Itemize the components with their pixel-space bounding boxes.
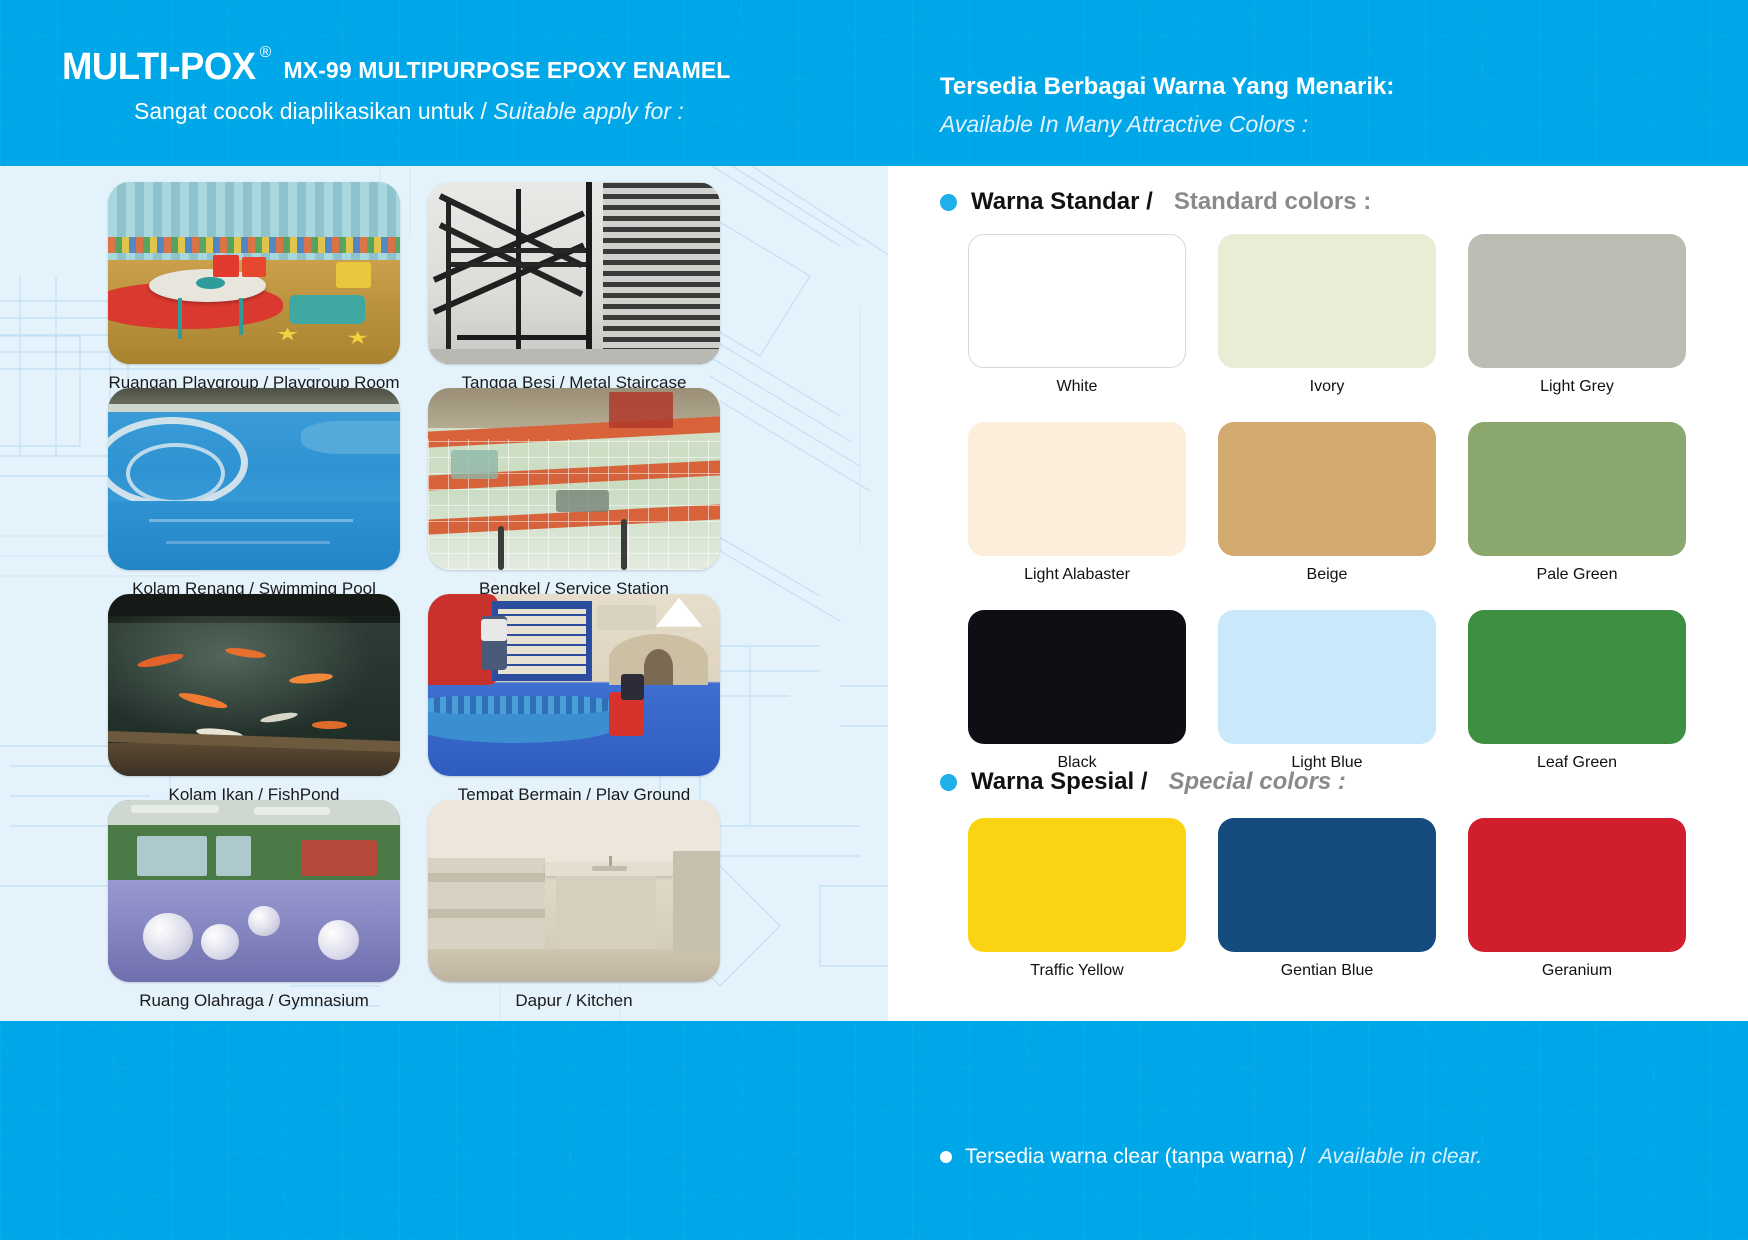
bullet-dot-icon (940, 774, 957, 791)
header-band: MULTI-POX ® MX-99 MULTIPURPOSE EPOXY ENA… (0, 0, 1748, 166)
special-color-geranium[interactable]: Geranium (1468, 818, 1686, 980)
registered-trademark-icon: ® (260, 45, 272, 61)
photo-play-ground (428, 594, 720, 776)
photo-gymnasium (108, 800, 400, 982)
caption-kitchen: Dapur / Kitchen (428, 991, 720, 1011)
color-chip[interactable] (1468, 422, 1686, 556)
application-item-gymnasium[interactable]: Ruang Olahraga / Gymnasium (108, 800, 400, 1011)
bullet-dot-icon (940, 194, 957, 211)
color-chip[interactable] (1468, 610, 1686, 744)
special-color-traffic-yellow[interactable]: Traffic Yellow (968, 818, 1186, 980)
standard-colors-heading: Warna Standar / Standard colors : (940, 188, 1371, 216)
color-chip[interactable] (968, 422, 1186, 556)
brand-name: MULTI-POX (62, 48, 256, 86)
applications-panel: Ruangan Playgroup / Playgroup Room (0, 166, 888, 1021)
brand-logo: MULTI-POX ® MX-99 MULTIPURPOSE EPOXY ENA… (62, 48, 730, 86)
application-item-fish-pond[interactable]: Kolam Ikan / FishPond (108, 594, 400, 805)
color-label: Beige (1218, 566, 1436, 584)
standard-colors-heading-id: Warna Standar / (971, 188, 1153, 216)
photo-playgroup-room (108, 182, 400, 364)
application-item-swimming-pool[interactable]: Kolam Renang / Swimming Pool (108, 388, 400, 599)
application-item-play-ground[interactable]: Tempat Bermain / Play Ground (428, 594, 720, 805)
clear-availability-note: Tersedia warna clear (tanpa warna) / Ava… (940, 1145, 1482, 1169)
standard-color-black[interactable]: Black (968, 610, 1186, 772)
color-label: Geranium (1468, 962, 1686, 980)
colors-header-title: Tersedia Berbagai Warna Yang Menarik: (940, 72, 1394, 102)
color-label: White (968, 378, 1186, 396)
special-colors-grid: Traffic YellowGentian BlueGeranium (968, 818, 1686, 980)
standard-color-light-alabaster[interactable]: Light Alabaster (968, 422, 1186, 584)
color-label: Leaf Green (1468, 754, 1686, 772)
product-line-title: MX-99 MULTIPURPOSE EPOXY ENAMEL (283, 59, 730, 82)
application-item-metal-staircase[interactable]: Tangga Besi / Metal Staircase (428, 182, 720, 393)
special-colors-heading: Warna Spesial / Special colors : (940, 768, 1346, 796)
bullet-dot-icon (940, 1151, 952, 1163)
color-label: Gentian Blue (1218, 962, 1436, 980)
special-colors-heading-id: Warna Spesial / (971, 768, 1148, 796)
color-label: Traffic Yellow (968, 962, 1186, 980)
application-item-kitchen[interactable]: Dapur / Kitchen (428, 800, 720, 1011)
color-chip[interactable] (968, 610, 1186, 744)
colors-panel: Warna Standar / Standard colors : WhiteI… (888, 166, 1748, 1021)
header-subtitle-id: Sangat cocok diaplikasikan untuk / (134, 98, 487, 124)
color-chip[interactable] (1218, 234, 1436, 368)
footer-note-en: Available in clear. (1319, 1145, 1482, 1169)
brochure-page: MULTI-POX ® MX-99 MULTIPURPOSE EPOXY ENA… (0, 0, 1748, 1240)
header-subtitle: Sangat cocok diaplikasikan untuk / Suita… (134, 99, 730, 124)
standard-colors-heading-en: Standard colors : (1174, 188, 1371, 216)
standard-color-light-grey[interactable]: Light Grey (1468, 234, 1686, 396)
standard-color-beige[interactable]: Beige (1218, 422, 1436, 584)
color-chip[interactable] (1468, 818, 1686, 952)
photo-kitchen (428, 800, 720, 982)
photo-service-station (428, 388, 720, 570)
header-subtitle-en: Suitable apply for : (493, 98, 684, 124)
caption-gymnasium: Ruang Olahraga / Gymnasium (108, 991, 400, 1011)
standard-color-pale-green[interactable]: Pale Green (1468, 422, 1686, 584)
header-right-block: Tersedia Berbagai Warna Yang Menarik: Av… (940, 72, 1394, 138)
photo-metal-staircase (428, 182, 720, 364)
color-chip[interactable] (1218, 610, 1436, 744)
application-item-service-station[interactable]: Bengkel / Service Station (428, 388, 720, 599)
color-label: Light Grey (1468, 378, 1686, 396)
special-colors-heading-en: Special colors : (1169, 768, 1346, 796)
color-chip[interactable] (1468, 234, 1686, 368)
application-photo-grid: Ruangan Playgroup / Playgroup Room (0, 166, 888, 1021)
color-label: Pale Green (1468, 566, 1686, 584)
standard-color-light-blue[interactable]: Light Blue (1218, 610, 1436, 772)
standard-color-ivory[interactable]: Ivory (1218, 234, 1436, 396)
footer-band (0, 1021, 1748, 1240)
standard-color-white[interactable]: White (968, 234, 1186, 396)
color-chip[interactable] (968, 818, 1186, 952)
color-label: Ivory (1218, 378, 1436, 396)
color-chip[interactable] (1218, 422, 1436, 556)
application-item-playgroup-room[interactable]: Ruangan Playgroup / Playgroup Room (108, 182, 400, 393)
color-chip[interactable] (1218, 818, 1436, 952)
header-left-block: MULTI-POX ® MX-99 MULTIPURPOSE EPOXY ENA… (62, 48, 730, 124)
photo-swimming-pool (108, 388, 400, 570)
photo-fish-pond (108, 594, 400, 776)
colors-header-subtitle: Available In Many Attractive Colors : (940, 111, 1394, 138)
footer-note-id: Tersedia warna clear (tanpa warna) / (965, 1145, 1306, 1169)
color-label: Light Alabaster (968, 566, 1186, 584)
footer-blueprint-texture (0, 1021, 1748, 1240)
special-color-gentian-blue[interactable]: Gentian Blue (1218, 818, 1436, 980)
color-chip[interactable] (968, 234, 1186, 368)
standard-colors-grid: WhiteIvoryLight GreyLight AlabasterBeige… (968, 234, 1686, 772)
standard-color-leaf-green[interactable]: Leaf Green (1468, 610, 1686, 772)
